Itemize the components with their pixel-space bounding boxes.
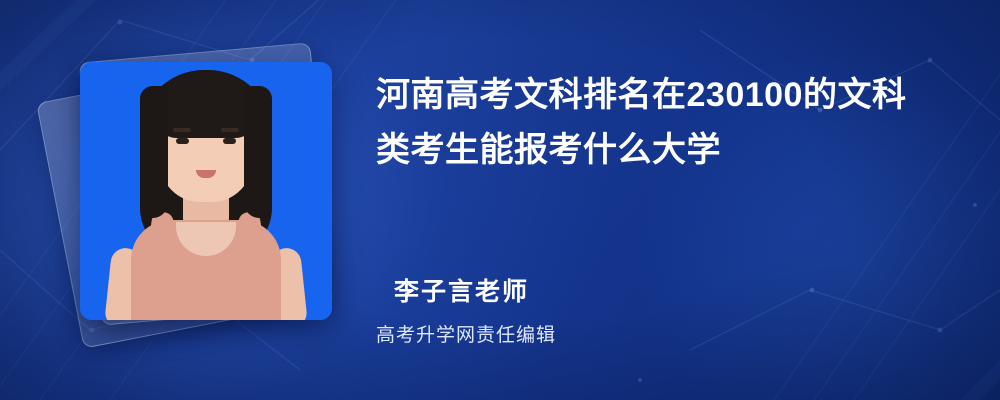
author-name: 李子言老师	[394, 272, 529, 308]
portrait-eye-left	[176, 138, 189, 144]
portrait-hair-front	[154, 72, 258, 138]
article-cover-banner: 河南高考文科排名在230100的文科 类考生能报考什么大学 李子言老师 高考升学…	[0, 0, 1000, 400]
portrait-eye-right	[223, 138, 236, 144]
page-title-line-1: 河南高考文科排名在230100的文科	[376, 68, 956, 123]
portrait-photo-frame	[80, 62, 332, 320]
author-role: 高考升学网责任编辑	[376, 320, 556, 347]
banner-text-block: 河南高考文科排名在230100的文科 类考生能报考什么大学 李子言老师 高考升学…	[376, 0, 976, 400]
portrait-eyebrow-right	[221, 128, 239, 132]
portrait-eyebrow-left	[173, 128, 191, 132]
page-title: 河南高考文科排名在230100的文科 类考生能报考什么大学	[376, 68, 956, 178]
page-title-line-2: 类考生能报考什么大学	[376, 123, 956, 178]
portrait-photo	[80, 62, 332, 320]
photo-card-stack	[50, 22, 350, 362]
portrait-hair-side-left	[140, 86, 168, 218]
portrait-hair-side-right	[244, 86, 272, 218]
